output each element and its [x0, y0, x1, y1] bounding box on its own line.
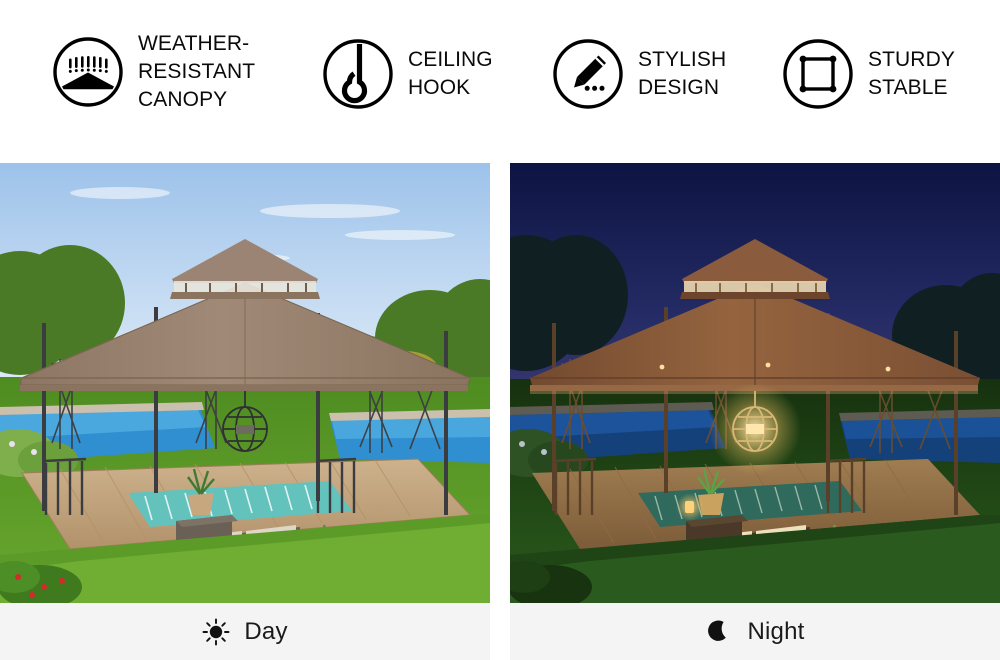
caption-day-label: Day [244, 618, 287, 646]
feature-item-stylish-design: STYLISH DESIGN [552, 38, 726, 110]
sun-icon [202, 618, 230, 646]
photo-night [510, 163, 1000, 603]
feature-label-sturdy-stable: STURDY STABLE [868, 46, 955, 102]
feature-label-stylish-design: STYLISH DESIGN [638, 46, 726, 102]
caption-bar: Day Night [0, 603, 1000, 660]
rain-canopy-icon [52, 36, 124, 108]
pencil-icon [552, 38, 624, 110]
caption-day: Day [0, 603, 490, 660]
photo-day [0, 163, 490, 603]
product-feature-page: WEATHER- RESISTANT CANOPY CEILING HOOK [0, 0, 1000, 660]
comparison-panels [0, 163, 1000, 603]
feature-strip: WEATHER- RESISTANT CANOPY CEILING HOOK [0, 0, 1000, 163]
caption-night-label: Night [747, 618, 804, 646]
square-frame-icon [782, 38, 854, 110]
feature-item-weather-resistant-canopy: WEATHER- RESISTANT CANOPY [52, 30, 255, 114]
feature-item-sturdy-stable: STURDY STABLE [782, 38, 955, 110]
moon-icon [705, 618, 733, 646]
feature-label-ceiling-hook: CEILING HOOK [408, 46, 493, 102]
ceiling-hook-icon [322, 38, 394, 110]
feature-item-ceiling-hook: CEILING HOOK [322, 38, 493, 110]
caption-night: Night [510, 603, 1000, 660]
feature-label-weather-resistant-canopy: WEATHER- RESISTANT CANOPY [138, 30, 255, 114]
